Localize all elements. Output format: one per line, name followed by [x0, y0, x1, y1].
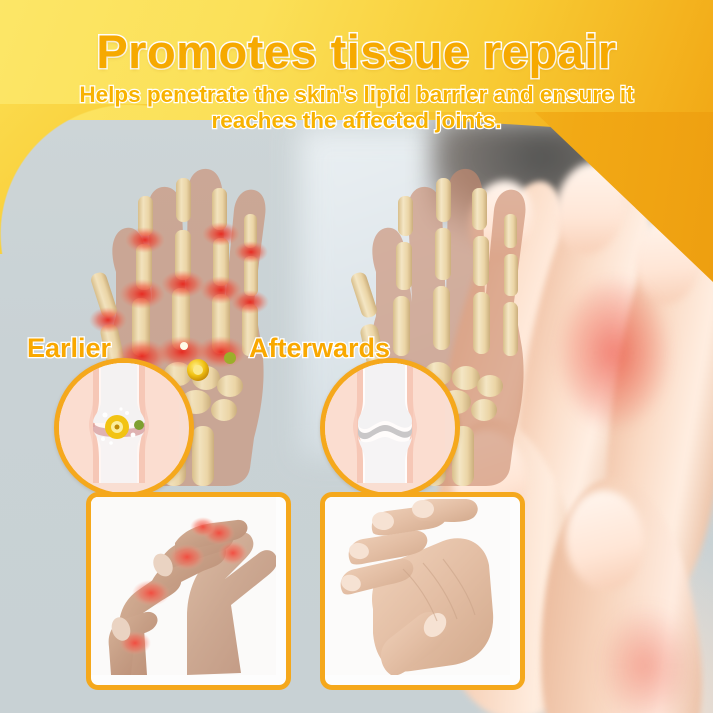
inflamed-joint-icon: [54, 358, 194, 498]
photo-healthy-hand: [320, 492, 525, 690]
page-title: Promotes tissue repair: [0, 0, 713, 78]
photo-inflammation-glow: [558, 278, 670, 428]
page-subtitle: Helps penetrate the skin's lipid barrier…: [0, 82, 713, 134]
label-after: Afterwards: [249, 333, 390, 364]
healthy-joint-icon: [320, 358, 460, 498]
label-before: Earlier: [27, 333, 111, 364]
header: Promotes tissue repair Helps penetrate t…: [0, 0, 713, 134]
photo-arthritic-hands: [86, 492, 291, 690]
promo-banner: Promotes tissue repair Helps penetrate t…: [0, 0, 713, 713]
